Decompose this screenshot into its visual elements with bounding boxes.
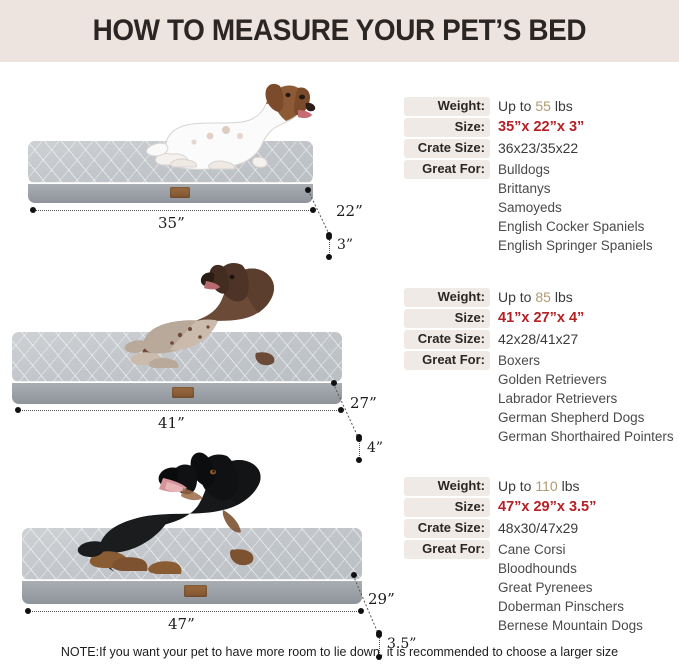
spec-label-crate-size: Crate Size:	[404, 139, 490, 158]
dimension-label-depth: 27”	[350, 394, 377, 412]
footer-note: NOTE:If you want your pet to have more r…	[0, 645, 679, 659]
spec-row-great-for: Great For: Bulldogs Brittanys Samoyeds E…	[404, 160, 653, 255]
dimension-line-width	[28, 611, 361, 612]
spec-label-weight: Weight:	[404, 288, 490, 307]
header-band: HOW TO MEASURE YOUR PET’S BED	[0, 0, 679, 62]
spec-label-great-for: Great For:	[404, 351, 490, 370]
dimension-label-height: 3”	[337, 237, 353, 253]
breed-item: Great Pyrenees	[498, 578, 643, 597]
dimension-endpoint-dot	[15, 407, 21, 413]
dimension-endpoint-dot	[305, 187, 311, 193]
spec-value-size: 47”x 29”x 3.5”	[490, 498, 596, 517]
spec-row-size: Size: 41”x 27”x 4”	[404, 309, 674, 328]
dimension-line-width	[33, 210, 313, 211]
weight-prefix: Up to	[498, 98, 535, 114]
brand-leather-tag	[172, 387, 194, 398]
weight-number: 85	[535, 289, 551, 305]
size-section-large: 47” 29” 3.5” Weight: Up to 110 lbs Size:…	[0, 444, 679, 640]
dimension-endpoint-dot	[356, 436, 362, 442]
weight-number: 110	[535, 478, 557, 494]
size-section-small: 35” 22” 3” Weight: Up to 55 lbs Size: 35…	[0, 62, 679, 252]
breed-item: Bernese Mountain Dogs	[498, 616, 643, 635]
dimension-endpoint-dot	[326, 234, 332, 240]
dimension-endpoint-dot	[331, 380, 337, 386]
weight-suffix: lbs	[551, 98, 573, 114]
dimension-endpoint-dot	[351, 572, 357, 578]
spec-row-size: Size: 47”x 29”x 3.5”	[404, 498, 643, 517]
spec-row-crate-size: Crate Size: 48x30/47x29	[404, 519, 643, 538]
spec-label-crate-size: Crate Size:	[404, 330, 490, 349]
breed-item: Labrador Retrievers	[498, 389, 674, 408]
breed-list: Cane Corsi Bloodhounds Great Pyrenees Do…	[490, 540, 643, 635]
weight-suffix: lbs	[551, 289, 573, 305]
dimension-label-width: 41”	[158, 414, 185, 432]
breed-item: Golden Retrievers	[498, 370, 674, 389]
breed-list: Boxers Golden Retrievers Labrador Retrie…	[490, 351, 674, 446]
spec-label-great-for: Great For:	[404, 160, 490, 179]
spec-label-size: Size:	[404, 118, 490, 137]
spec-label-size: Size:	[404, 309, 490, 328]
size-section-medium: 41” 27” 4” Weight: Up to 85 lbs Size: 41…	[0, 252, 679, 444]
dog-brittany-spaniel	[130, 70, 340, 175]
breed-item: Bulldogs	[498, 160, 653, 179]
breed-item: Brittanys	[498, 179, 653, 198]
dimension-label-width: 35”	[158, 214, 185, 232]
spec-value-weight: Up to 55 lbs	[490, 97, 573, 116]
spec-row-great-for: Great For: Cane Corsi Bloodhounds Great …	[404, 540, 643, 635]
breed-item: Bloodhounds	[498, 559, 643, 578]
weight-prefix: Up to	[498, 289, 535, 305]
dog-german-shorthaired-pointer	[108, 257, 338, 375]
breed-list: Bulldogs Brittanys Samoyeds English Cock…	[490, 160, 653, 255]
spec-row-size: Size: 35”x 22”x 3”	[404, 118, 653, 137]
dimension-line-width	[18, 410, 341, 411]
breed-item: Cane Corsi	[498, 540, 643, 559]
spec-value-weight: Up to 85 lbs	[490, 288, 573, 307]
weight-suffix: lbs	[558, 478, 580, 494]
breed-item: Boxers	[498, 351, 674, 370]
spec-value-size: 41”x 27”x 4”	[490, 309, 584, 328]
spec-label-size: Size:	[404, 498, 490, 517]
breed-item: English Cocker Spaniels	[498, 217, 653, 236]
spec-label-weight: Weight:	[404, 97, 490, 116]
spec-row-weight: Weight: Up to 110 lbs	[404, 477, 643, 496]
spec-label-crate-size: Crate Size:	[404, 519, 490, 538]
dimension-endpoint-dot	[376, 632, 382, 638]
spec-value-crate-size: 48x30/47x29	[490, 519, 578, 538]
breed-item: Doberman Pinschers	[498, 597, 643, 616]
weight-number: 55	[535, 98, 551, 114]
spec-value-crate-size: 36x23/35x22	[490, 139, 578, 158]
dimension-label-width: 47”	[168, 615, 195, 633]
dimension-endpoint-dot	[30, 207, 36, 213]
brand-leather-tag	[170, 187, 190, 198]
spec-table-small: Weight: Up to 55 lbs Size: 35”x 22”x 3” …	[404, 97, 653, 257]
spec-value-size: 35”x 22”x 3”	[490, 118, 584, 137]
breed-item: Samoyeds	[498, 198, 653, 217]
spec-row-great-for: Great For: Boxers Golden Retrievers Labr…	[404, 351, 674, 446]
spec-row-weight: Weight: Up to 55 lbs	[404, 97, 653, 116]
spec-table-large: Weight: Up to 110 lbs Size: 47”x 29”x 3.…	[404, 477, 643, 637]
dog-doberman-pinscher	[55, 450, 315, 580]
spec-row-crate-size: Crate Size: 36x23/35x22	[404, 139, 653, 158]
spec-row-weight: Weight: Up to 85 lbs	[404, 288, 674, 307]
weight-prefix: Up to	[498, 478, 535, 494]
dimension-label-depth: 29”	[368, 590, 395, 608]
dimension-label-depth: 22”	[336, 202, 363, 220]
page-title: HOW TO MEASURE YOUR PET’S BED	[93, 14, 587, 48]
spec-value-weight: Up to 110 lbs	[490, 477, 579, 496]
spec-table-medium: Weight: Up to 85 lbs Size: 41”x 27”x 4” …	[404, 288, 674, 448]
spec-label-weight: Weight:	[404, 477, 490, 496]
breed-item: German Shepherd Dogs	[498, 408, 674, 427]
spec-value-crate-size: 42x28/41x27	[490, 330, 578, 349]
brand-leather-tag	[184, 585, 207, 597]
spec-row-crate-size: Crate Size: 42x28/41x27	[404, 330, 674, 349]
spec-label-great-for: Great For:	[404, 540, 490, 559]
dimension-endpoint-dot	[25, 608, 31, 614]
